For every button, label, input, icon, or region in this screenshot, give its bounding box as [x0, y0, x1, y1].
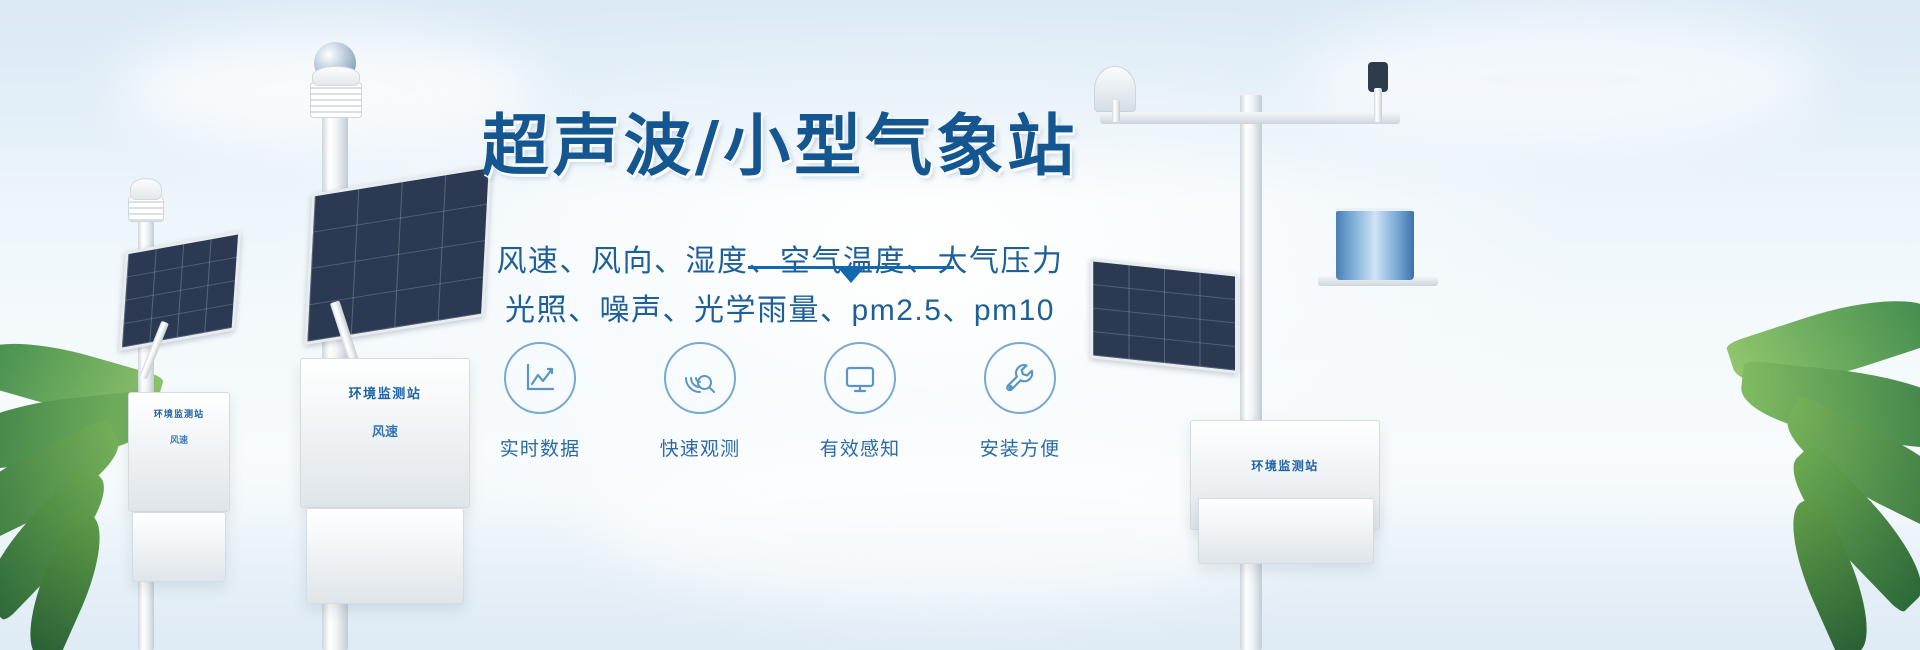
- feature-label: 实时数据: [500, 434, 581, 461]
- feature-item-realtime-data[interactable]: 实时数据: [488, 342, 592, 461]
- banner-content: 超声波/小型气象站 风速、风向、湿度、空气温度、大气压力 光照、噪声、光学雨量、…: [0, 0, 1920, 650]
- subtitle-line-2: 光照、噪声、光学雨量、pm2.5、pm10: [440, 285, 1120, 329]
- feature-item-easy-install[interactable]: 安装方便: [968, 342, 1072, 461]
- page-title: 超声波/小型气象站: [440, 112, 1120, 180]
- chart-line-icon: [504, 342, 576, 414]
- feature-list: 实时数据 快速观测: [440, 342, 1120, 461]
- subtitle-line-1: 风速、风向、湿度、空气温度、大气压力: [440, 236, 1120, 280]
- title-divider: [748, 266, 954, 269]
- feature-label: 快速观测: [660, 434, 741, 461]
- product-banner: 环境监测站 风速 环境监测站 风速 环境监测站 超声: [0, 0, 1920, 650]
- radar-signal-icon: [664, 342, 736, 414]
- feature-item-fast-observation[interactable]: 快速观测: [648, 342, 752, 461]
- feature-label: 有效感知: [820, 434, 901, 461]
- feature-label: 安装方便: [980, 434, 1061, 461]
- feature-item-effective-sensing[interactable]: 有效感知: [808, 342, 912, 461]
- monitor-icon: [824, 342, 896, 414]
- wrench-icon: [984, 342, 1056, 414]
